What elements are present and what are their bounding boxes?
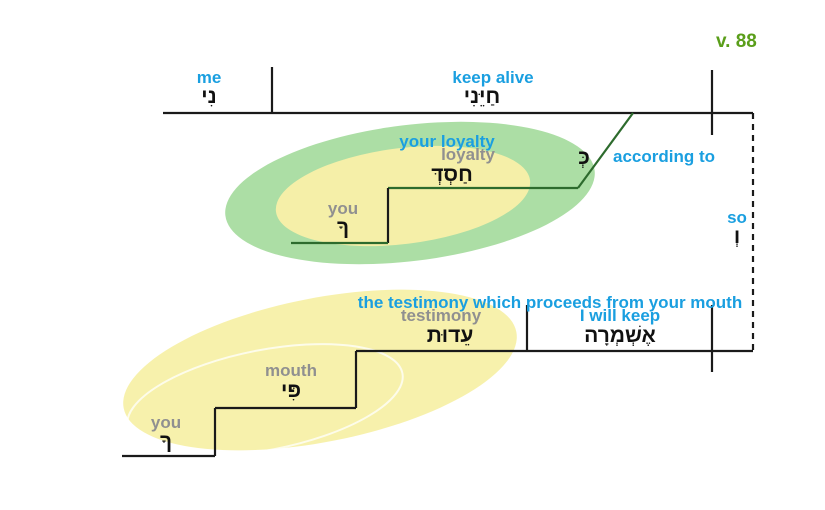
hebrew-conjunction-so: וְ [734, 226, 740, 247]
hebrew-suffix-you-mouth: ךָ [160, 431, 172, 452]
diagram-line-layer [0, 0, 825, 510]
gloss-head-testimony: testimony [401, 307, 481, 324]
gloss-verb-keep-alive: keep alive [452, 69, 533, 86]
syntax-diagram-canvas: v. 88 me נִי keep alive חַיֵּנִי your lo… [0, 0, 825, 510]
gloss-suffix-you-loyalty: you [328, 200, 358, 217]
hebrew-verb-keep-alive: חַיֵּנִי [464, 86, 500, 107]
gloss-verb-i-will-keep: I will keep [580, 307, 660, 324]
hebrew-object-pronoun-top: נִי [201, 86, 216, 107]
gloss-conjunction-so: so [727, 209, 747, 226]
gloss-mouth: mouth [265, 362, 317, 379]
hebrew-head-loyalty: חַסְדְּ [431, 164, 473, 185]
hebrew-preposition-according-to: כְּ [578, 147, 590, 168]
gloss-head-loyalty: loyalty [441, 146, 495, 163]
hebrew-suffix-you-loyalty: ךָ [337, 217, 349, 238]
hebrew-verb-i-will-keep: אֶשְׁמְרָה [584, 325, 656, 346]
gloss-preposition-according-to: according to [613, 148, 715, 165]
gloss-suffix-you-mouth: you [151, 414, 181, 431]
gloss-object-pronoun-top: me [197, 69, 222, 86]
hebrew-head-testimony: עֵדוּת [427, 325, 474, 346]
verse-label: v. 88 [716, 32, 757, 51]
hebrew-mouth: פִּי [281, 380, 301, 401]
